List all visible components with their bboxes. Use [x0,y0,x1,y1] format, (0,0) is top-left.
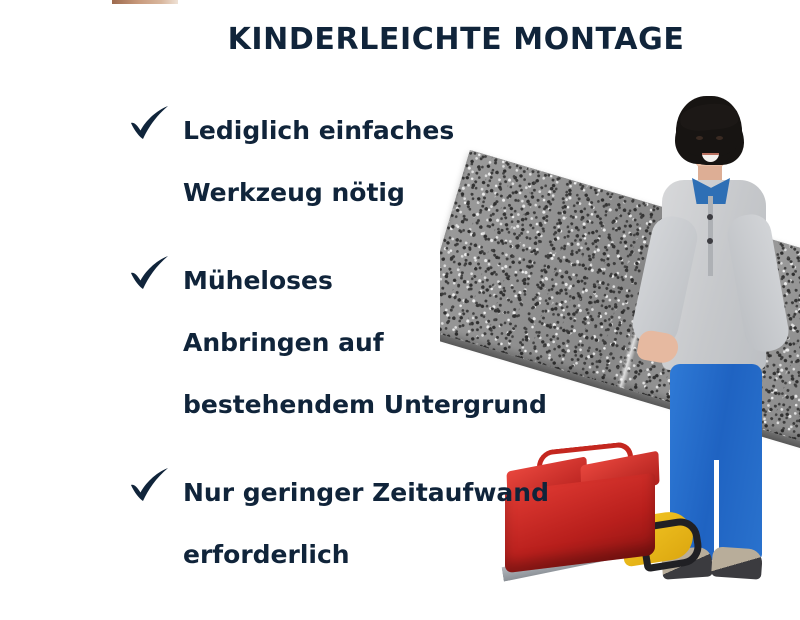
brand-rail: NORILIVING [0,0,112,620]
list-item: Müheloses Anbringen auf bestehendem Unte… [128,250,598,436]
hammer-head-tool [606,465,630,484]
hand-saw-handle [618,509,697,568]
worker-hand [636,329,681,365]
checkmark-icon [128,254,172,292]
worker-shoe-left [661,546,713,579]
worker-shirt-button [707,214,713,220]
list-item-line: Anbringen auf [183,312,598,374]
worker-arm-right [724,211,791,355]
list-item-line: erforderlich [183,524,598,586]
top-edge-artifact [112,0,178,4]
benefit-list: Lediglich einfaches Werkzeug nötig Mühel… [128,100,598,612]
checkmark-icon [128,466,172,504]
worker-trousers [670,364,762,560]
brand-wordmark: NORILIVING [19,59,93,561]
list-item-line: Müheloses [183,250,598,312]
worker-face [688,116,732,172]
worker-smile [702,153,719,162]
list-item-line: Lediglich einfaches [183,100,598,162]
promo-banner: NORILIVING [0,0,800,620]
page-title: KINDERLEICHTE MONTAGE [112,22,800,57]
worker-hair [676,96,742,156]
list-item-line: bestehendem Untergrund [183,374,598,436]
worker-shirt [662,180,766,370]
checkmark-icon [128,104,172,142]
worker-eye-left [696,136,703,140]
list-item-line: Nur geringer Zeitaufwand [183,462,598,524]
worker-shirt-button [707,238,713,244]
worker-hair-fringe [679,101,739,133]
worker-neck [698,166,722,184]
worker-collar [692,178,730,204]
hammer-shaft-tool [610,476,620,510]
list-item: Lediglich einfaches Werkzeug nötig [128,100,598,224]
list-item: Nur geringer Zeitaufwand erforderlich [128,462,598,586]
worker-eye-right [716,136,723,140]
worker-figure [636,96,786,556]
worker-shoe-right [711,546,763,579]
worker-arm-left [629,213,701,350]
list-item-line: Werkzeug nötig [183,162,598,224]
worker-shirt-placket [708,196,713,276]
hand-saw-grip [638,516,705,573]
